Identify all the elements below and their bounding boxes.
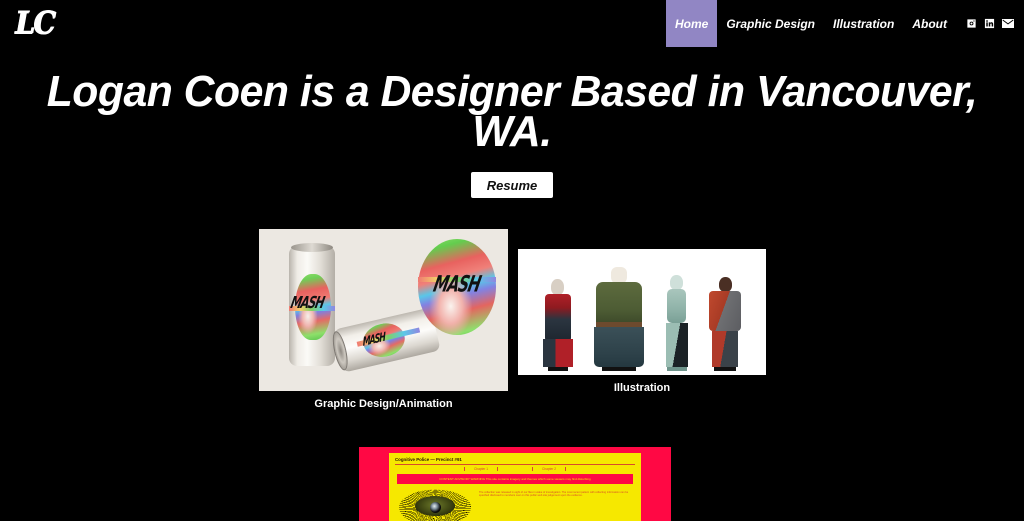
site-logo[interactable]: LC — [15, 2, 59, 46]
character-figure-4 — [709, 277, 741, 371]
nav-item-home[interactable]: Home — [666, 0, 717, 47]
disc-wordmark: MASH — [431, 271, 483, 298]
top-navigation-bar: LC Home Graphic Design Illustration Abou… — [0, 0, 1024, 47]
mockup-body-text: The collection was released in eight of … — [479, 487, 631, 521]
mockup-divider — [395, 464, 635, 465]
mockup-page-title: Cognitive Police — Precinct #91 — [395, 457, 635, 462]
mockup-content-warning: CONTENT ADVISORY WARNING This site conta… — [397, 474, 633, 484]
character-figure-3 — [666, 275, 688, 371]
resume-button[interactable]: Resume — [471, 172, 553, 198]
email-icon[interactable] — [1002, 19, 1014, 28]
mockup-tab-chapter-2[interactable]: Chapter 2 — [532, 467, 566, 471]
hero-section: Logan Coen is a Designer Based in Vancou… — [0, 72, 1024, 152]
mockup-page: Cognitive Police — Precinct #91 Chapter … — [389, 453, 641, 521]
character-figure-1 — [543, 279, 573, 371]
page-title: Logan Coen is a Designer Based in Vancou… — [15, 72, 1008, 152]
linkedin-icon[interactable] — [984, 18, 995, 29]
instagram-icon[interactable] — [966, 18, 977, 29]
work-item-graphic-design[interactable]: MASH MASH MASH Graphic Design/Animation — [259, 229, 508, 410]
nav-item-graphic-design[interactable]: Graphic Design — [717, 0, 824, 47]
social-icons — [956, 0, 1020, 47]
website-mockup-thumbnail[interactable]: Cognitive Police — Precinct #91 Chapter … — [359, 447, 671, 521]
can-lid — [291, 243, 333, 252]
brand-logo-disc: MASH — [418, 239, 496, 335]
nav-item-illustration[interactable]: Illustration — [824, 0, 903, 47]
can-upright: MASH — [289, 246, 335, 366]
mockup-tabs: Chapter 1 Chapter 2 — [395, 466, 635, 473]
can-tilted: MASH — [333, 307, 440, 372]
can-mockup-thumbnail[interactable]: MASH MASH MASH — [259, 229, 508, 391]
character-lineup-thumbnail[interactable] — [518, 249, 766, 375]
eye-pupil — [430, 502, 441, 513]
can-wordmark: MASH — [289, 293, 326, 313]
work-item-cognitive-police[interactable]: Cognitive Police — Precinct #91 Chapter … — [359, 447, 671, 521]
nav-item-about[interactable]: About — [903, 0, 956, 47]
work-item-illustration[interactable]: Illustration — [518, 249, 766, 394]
eye-illustration — [399, 487, 471, 521]
work-caption-graphic-design: Graphic Design/Animation — [259, 398, 508, 410]
nav-right-cluster: Home Graphic Design Illustration About — [666, 0, 1020, 47]
character-figure-2 — [594, 267, 644, 371]
work-caption-illustration: Illustration — [518, 382, 766, 394]
mockup-tab-chapter-1[interactable]: Chapter 1 — [464, 467, 498, 471]
mockup-lower-section: The collection was released in eight of … — [395, 487, 635, 521]
nav-links: Home Graphic Design Illustration About — [666, 0, 956, 47]
